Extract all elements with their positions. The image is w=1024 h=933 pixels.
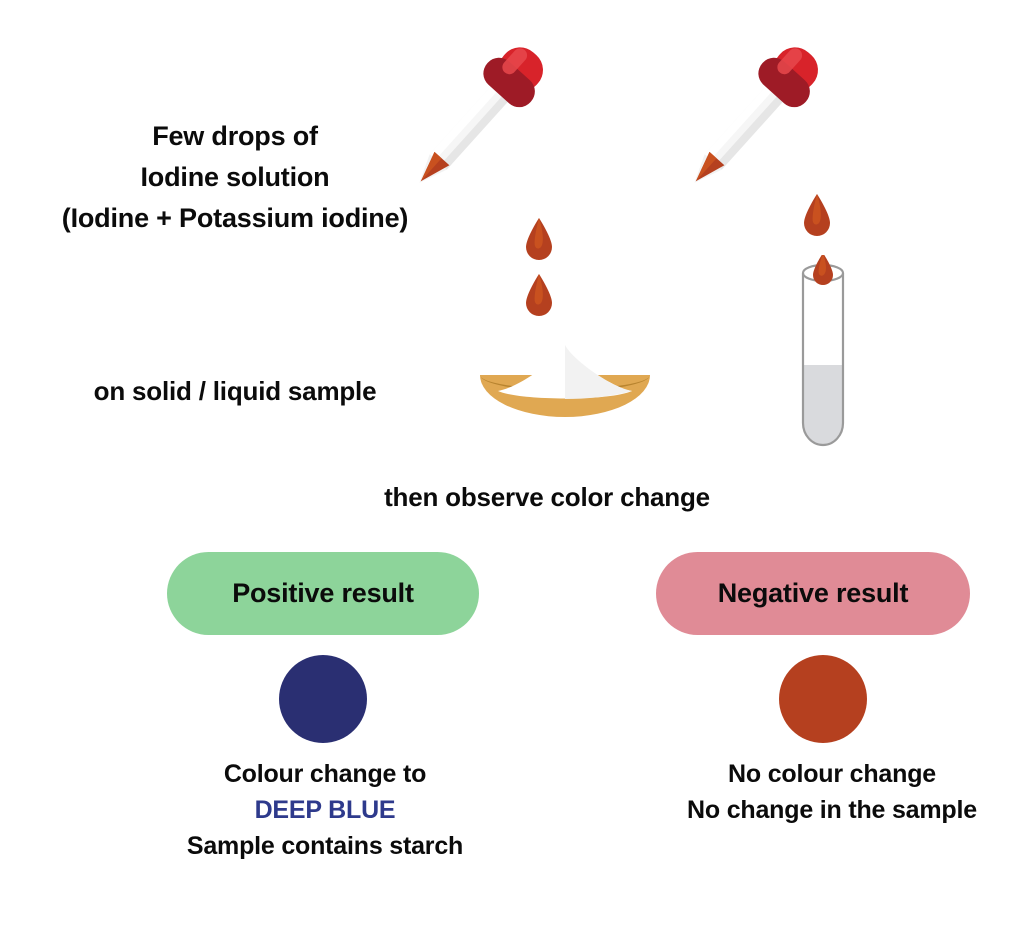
positive-result-conclusion: Colour change to DEEP BLUE Sample contai… bbox=[130, 756, 520, 864]
negative-conclusion-line-2: No change in the sample bbox=[640, 792, 1024, 828]
positive-conclusion-line-3: Sample contains starch bbox=[130, 828, 520, 864]
reagent-label-line-3: (Iodine + Potassium iodine) bbox=[0, 198, 470, 239]
deep-blue-colour-swatch bbox=[279, 655, 367, 743]
positive-result-pill-label: Positive result bbox=[232, 578, 414, 609]
test-tube-with-liquid-sample bbox=[778, 255, 868, 455]
iodine-dropper-pipette-right bbox=[658, 22, 848, 212]
positive-conclusion-line-2: DEEP BLUE bbox=[130, 792, 520, 828]
observe-instruction-label: then observe color change bbox=[212, 482, 882, 513]
sample-label: on solid / liquid sample bbox=[0, 376, 470, 407]
iodine-drops-falling-left bbox=[514, 214, 564, 324]
reagent-label-line-2: Iodine solution bbox=[0, 157, 470, 198]
negative-result-pill: Negative result bbox=[656, 552, 970, 635]
reagent-label: Few drops of Iodine solution (Iodine + P… bbox=[0, 116, 470, 239]
positive-conclusion-line-1: Colour change to bbox=[130, 756, 520, 792]
positive-result-pill: Positive result bbox=[167, 552, 479, 635]
negative-result-pill-label: Negative result bbox=[718, 578, 909, 609]
negative-conclusion-line-1: No colour change bbox=[640, 756, 1024, 792]
diagram-canvas: Few drops of Iodine solution (Iodine + P… bbox=[0, 0, 1024, 933]
rust-brown-colour-swatch bbox=[779, 655, 867, 743]
iodine-drop-falling-right bbox=[792, 190, 842, 245]
reagent-label-line-1: Few drops of bbox=[0, 116, 470, 157]
petri-dish-with-solid-sample bbox=[460, 345, 670, 445]
negative-result-conclusion: No colour change No change in the sample bbox=[640, 756, 1024, 828]
